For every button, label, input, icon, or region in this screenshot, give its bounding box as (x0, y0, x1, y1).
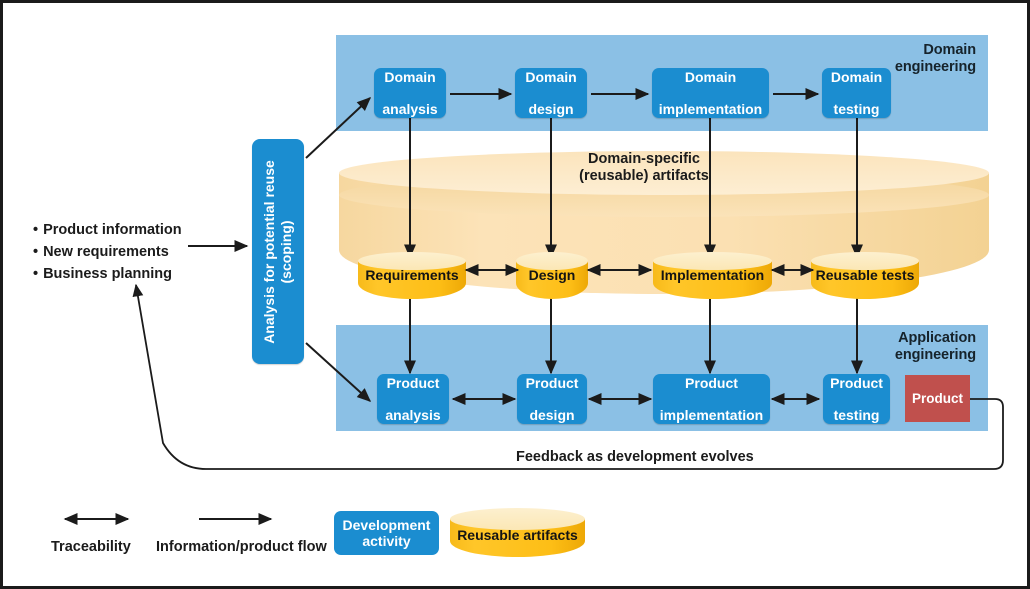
activity-label-line1: Domain (826, 69, 887, 85)
artifact-store-label: Implementation (653, 268, 772, 282)
inputs-bullet-list: •Product information •New requirements •… (33, 219, 182, 285)
input-bullet-label: Business planning (43, 266, 172, 282)
list-item: •New requirements (33, 241, 182, 263)
domain-engineering-title: Domain engineering (895, 42, 976, 76)
activity-label-line2: implementation (654, 101, 767, 117)
activity-label-line2: implementation (655, 407, 768, 423)
activity-label-line2: analysis (377, 101, 442, 117)
list-item: •Product information (33, 219, 182, 241)
activity-label-line1: Product (521, 375, 584, 391)
product-label: Product (912, 391, 963, 406)
diagram-canvas: Domain engineering Application engineeri… (0, 0, 1030, 589)
input-bullet-label: New requirements (43, 244, 169, 260)
scoping-label: Analysis for potential reuse (scoping) (261, 160, 295, 344)
activity-domain-design[interactable]: Domain design (515, 68, 587, 118)
bullet-marker: • (33, 244, 38, 260)
activity-product-analysis[interactable]: Product analysis (377, 374, 449, 424)
application-engineering-title-line1: Application (895, 330, 976, 347)
legend-traceability-label: Traceability (51, 539, 131, 555)
activity-domain-implementation[interactable]: Domain implementation (652, 68, 769, 118)
list-item: •Business planning (33, 263, 182, 285)
activity-label-line2: testing (826, 101, 887, 117)
activity-label-line1: Product (655, 375, 768, 391)
legend-reusable-artifacts-swatch: Reusable artifacts (450, 508, 585, 558)
activity-label-line2: testing (825, 407, 888, 423)
scoping-label-line1: Analysis for potential reuse (261, 160, 278, 344)
artifact-store-label: Reusable tests (811, 268, 919, 282)
activity-domain-analysis[interactable]: Domain analysis (374, 68, 446, 118)
activity-label-line1: Product (380, 375, 445, 391)
activity-label-line1: Domain (520, 69, 581, 85)
domain-engineering-title-line2: engineering (895, 59, 976, 76)
activity-product-testing[interactable]: Product testing (823, 374, 890, 424)
legend-artifacts-label: Reusable artifacts (450, 527, 585, 543)
artifacts-title-line1: Domain-specific (559, 151, 729, 168)
artifacts-title-line2: (reusable) artifacts (559, 168, 729, 185)
domain-engineering-title-line1: Domain (895, 42, 976, 59)
legend-activity-line2: activity (362, 533, 410, 549)
application-engineering-title-line2: engineering (895, 347, 976, 364)
scoping-label-line2: (scoping) (278, 160, 295, 344)
activity-domain-testing[interactable]: Domain testing (822, 68, 891, 118)
activity-label-line2: analysis (380, 407, 445, 423)
artifact-store-label: Design (516, 268, 588, 282)
activity-label-line2: design (520, 101, 581, 117)
product-output-box[interactable]: Product (905, 375, 970, 422)
scoping-activity-box[interactable]: Analysis for potential reuse (scoping) (252, 139, 304, 364)
activity-label-line2: design (521, 407, 584, 423)
bullet-marker: • (33, 222, 38, 238)
activity-product-implementation[interactable]: Product implementation (653, 374, 770, 424)
input-bullet-label: Product information (43, 222, 182, 238)
legend-flow-label: Information/product flow (156, 539, 327, 555)
activity-product-design[interactable]: Product design (517, 374, 587, 424)
activity-label-line1: Domain (377, 69, 442, 85)
artifacts-cylinder-label: Domain-specific (reusable) artifacts (559, 151, 729, 186)
legend-development-activity-swatch: Development activity (334, 511, 439, 555)
activity-label-line1: Product (825, 375, 888, 391)
activity-label-line1: Domain (654, 69, 767, 85)
bullet-marker: • (33, 266, 38, 282)
legend-activity-line1: Development (343, 517, 431, 533)
application-engineering-title: Application engineering (895, 330, 976, 364)
artifact-store-label: Requirements (358, 268, 466, 282)
feedback-loop-label: Feedback as development evolves (516, 449, 754, 465)
